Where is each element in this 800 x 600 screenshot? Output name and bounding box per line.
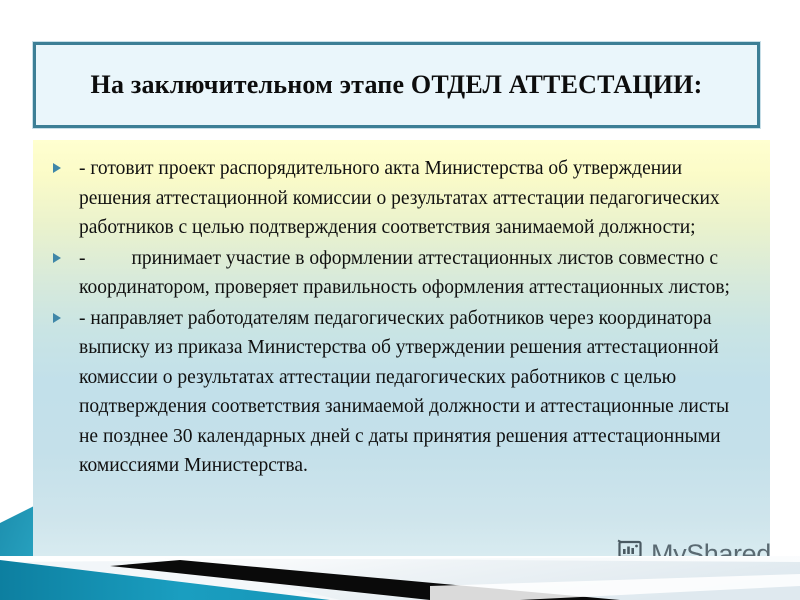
list-item: - направляет работодателям педагогически… [41,304,748,481]
bullet-dash: - [79,248,86,269]
bottom-band-shapes [0,556,800,600]
list-item: - готовит проект распорядительного акта … [41,154,748,243]
triangle-bullet-icon [53,163,61,173]
bullet-text: - готовит проект распорядительного акта … [79,158,720,238]
slide-content-box: - готовит проект распорядительного акта … [33,140,770,572]
triangle-bullet-icon [53,313,61,323]
list-item: -принимает участие в оформлении аттестац… [41,244,748,303]
bullet-list: - готовит проект распорядительного акта … [41,154,748,481]
slide-title-box: На заключительном этапе ОТДЕЛ АТТЕСТАЦИИ… [33,42,760,128]
bullet-text: - направляет работодателям педагогически… [79,308,729,477]
bullet-text: принимает участие в оформлении аттестаци… [79,248,730,299]
slide-canvas: На заключительном этапе ОТДЕЛ АТТЕСТАЦИИ… [0,0,800,600]
bottom-decoration-band [0,556,800,600]
page-title: На заключительном этапе ОТДЕЛ АТТЕСТАЦИИ… [91,70,703,100]
triangle-bullet-icon [53,253,61,263]
